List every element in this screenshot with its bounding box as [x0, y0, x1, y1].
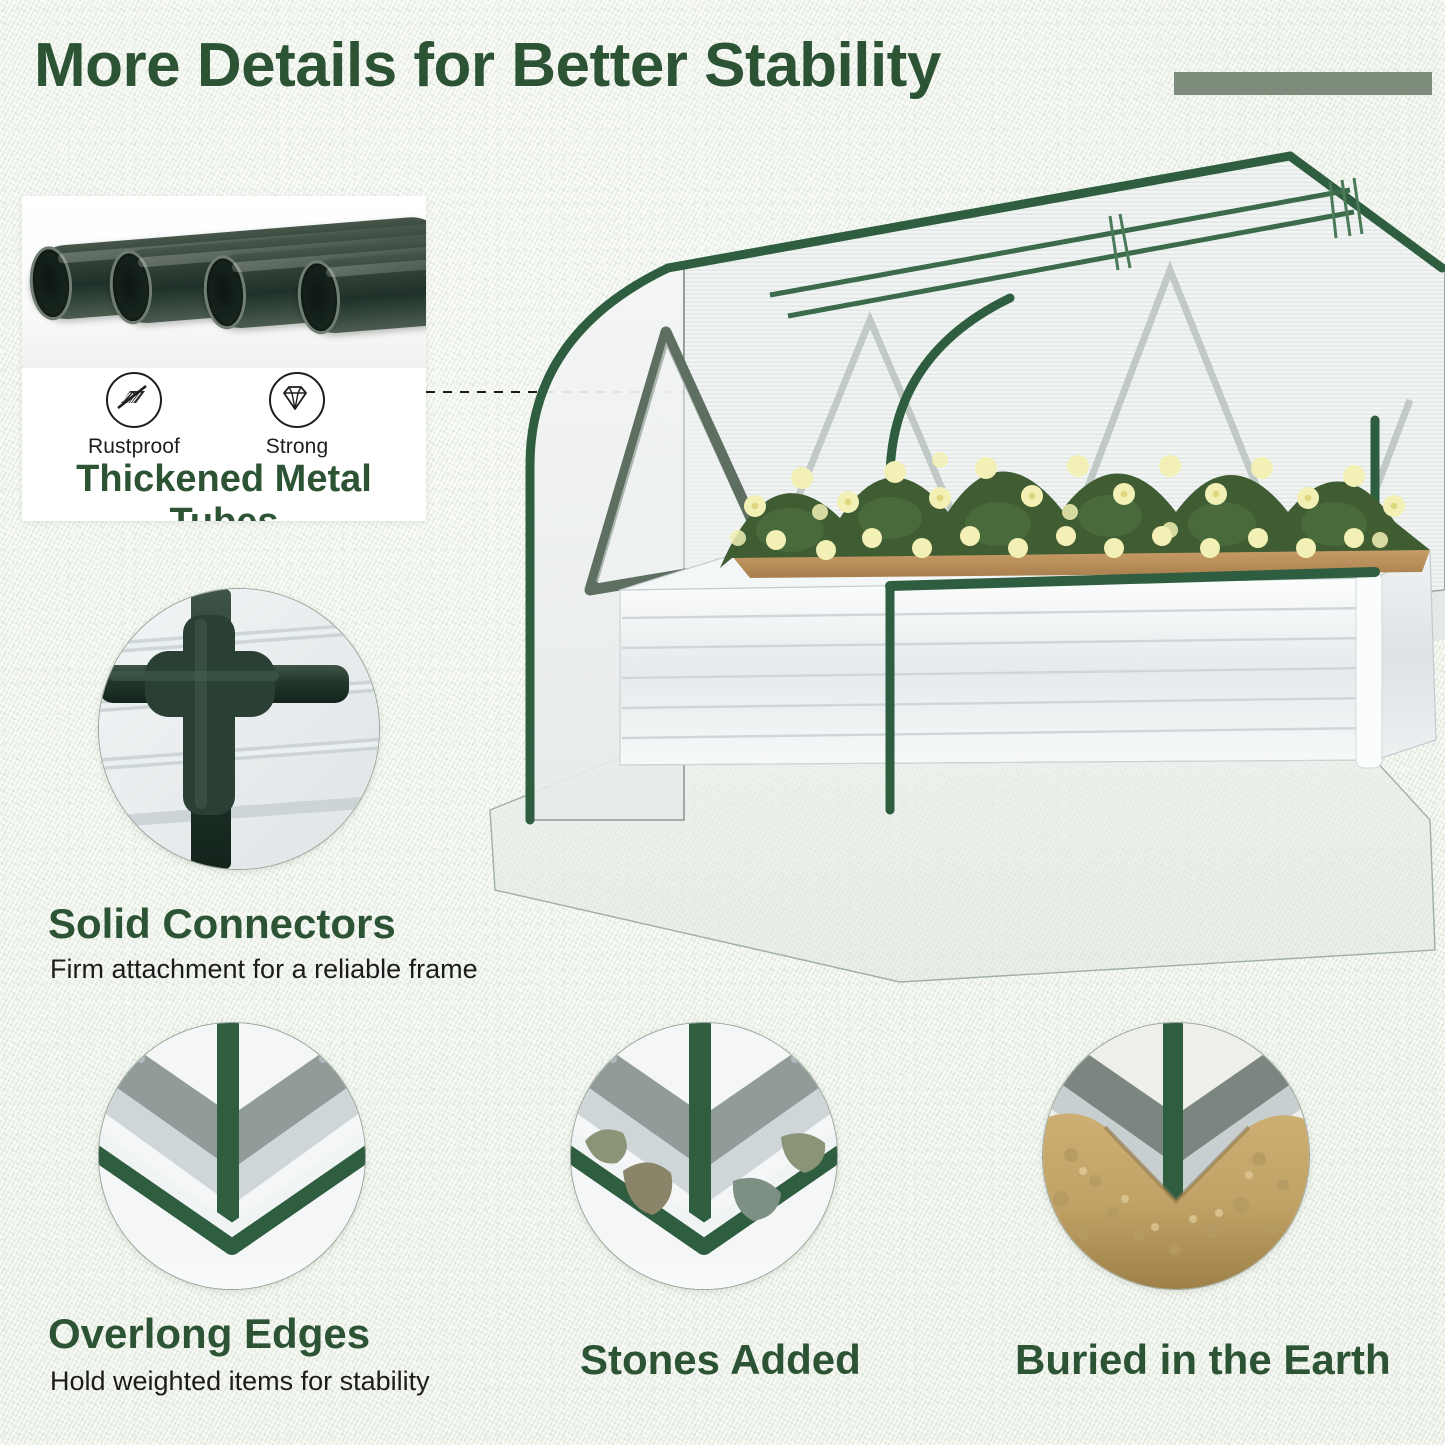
title-accent-bar	[1174, 72, 1432, 95]
bed-corner-post	[1356, 572, 1382, 768]
rustproof-icon	[106, 372, 162, 428]
badge-rustproof: Rustproof	[74, 372, 194, 459]
badge-label: Rustproof	[74, 435, 194, 459]
raised-bed-side-panel	[1375, 552, 1436, 760]
page-title: More Details for Better Stability	[34, 30, 941, 101]
solid-connectors-photo	[98, 588, 380, 870]
tube-feature-badges: Rustproof Strong	[22, 372, 426, 460]
tube-card-title: Thickened Metal Tubes	[22, 458, 426, 521]
solid-connectors-subtitle: Firm attachment for a reliable frame	[50, 954, 478, 985]
overlong-edges-subtitle: Hold weighted items for stability	[50, 1366, 430, 1397]
metal-tubes-photo	[22, 196, 426, 368]
diamond-strong-icon	[269, 372, 325, 428]
stones-added-photo	[570, 1022, 838, 1290]
solid-connectors-heading: Solid Connectors	[48, 900, 396, 948]
buried-in-earth-photo	[1042, 1022, 1310, 1290]
badge-strong: Strong	[237, 372, 357, 459]
badge-label: Strong	[237, 435, 357, 459]
vertical-frame-post	[217, 1023, 239, 1223]
buried-in-earth-heading: Buried in the Earth	[1015, 1336, 1391, 1384]
overlong-edges-photo	[98, 1022, 366, 1290]
infographic-page: More Details for Better Stability	[0, 0, 1445, 1445]
thickened-metal-tubes-card: Rustproof Strong Thickened Metal Tubes	[22, 196, 426, 521]
greenhouse-product-image	[470, 120, 1445, 990]
overlong-edges-heading: Overlong Edges	[48, 1310, 370, 1358]
stones-added-heading: Stones Added	[580, 1336, 861, 1384]
